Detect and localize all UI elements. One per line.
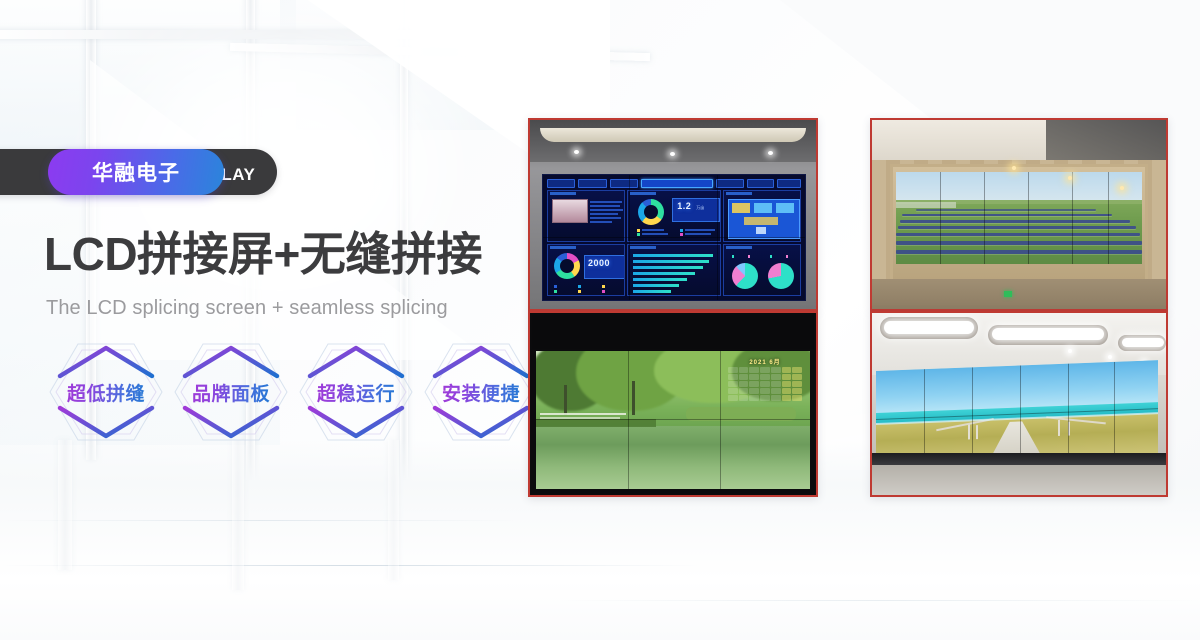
feature-badge-label: 品牌面板 bbox=[192, 379, 270, 406]
bg-floor-line bbox=[560, 600, 1200, 601]
solar-farm-screen bbox=[896, 172, 1142, 264]
page-subtitle: The LCD splicing screen + seamless splic… bbox=[46, 297, 448, 320]
left-content-column: 商显大屏 / DISPLAY 华融电子 LCD拼接屏+无缝拼接 The LCD … bbox=[0, 0, 520, 640]
brand-pill: 华融电子 bbox=[48, 149, 224, 195]
product-photo-grid: 1.2 万亩 bbox=[528, 118, 1164, 493]
photo-park-videowall[interactable]: 2021 6月 bbox=[528, 311, 818, 497]
dashboard-screen: 1.2 万亩 bbox=[542, 174, 806, 301]
brand-pill-label: 华融电子 bbox=[92, 157, 180, 187]
photo-beach-videowall[interactable] bbox=[870, 311, 1168, 497]
promo-banner: 商显大屏 / DISPLAY 华融电子 LCD拼接屏+无缝拼接 The LCD … bbox=[0, 0, 1200, 640]
feature-badge[interactable]: 安装便捷 bbox=[421, 336, 541, 448]
feature-badge[interactable]: 超低拼缝 bbox=[46, 336, 166, 448]
photo-dashboard-videowall[interactable]: 1.2 万亩 bbox=[528, 118, 818, 311]
feature-badge-label: 超低拼缝 bbox=[67, 379, 145, 406]
feature-badge-label: 安装便捷 bbox=[442, 379, 520, 406]
calendar-title: 2021 6月 bbox=[728, 357, 802, 365]
beach-boardwalk-screen bbox=[876, 360, 1158, 467]
brand-badge-row: 商显大屏 / DISPLAY 华融电子 bbox=[48, 149, 277, 195]
page-title: LCD拼接屏+无缝拼接 bbox=[44, 231, 482, 277]
feature-badge[interactable]: 品牌面板 bbox=[171, 336, 291, 448]
feature-badge[interactable]: 超稳运行 bbox=[296, 336, 416, 448]
calendar-overlay: 2021 6月 bbox=[728, 357, 802, 419]
feature-badge-label: 超稳运行 bbox=[317, 379, 395, 406]
photo-solarfarm-videowall[interactable] bbox=[870, 118, 1168, 311]
feature-badge-list: 超低拼缝 品牌面板 超稳运行 bbox=[46, 336, 541, 448]
park-lake-screen: 2021 6月 bbox=[536, 351, 810, 489]
